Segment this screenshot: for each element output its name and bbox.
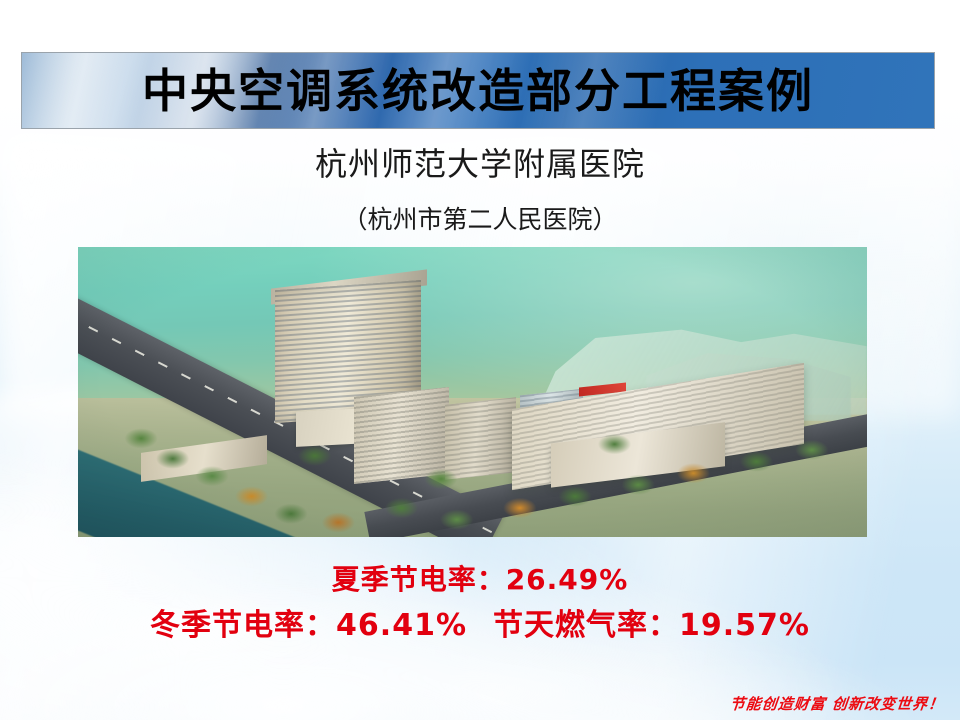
subtitle-primary: 杭州师范大学附属医院 [0, 146, 960, 184]
page-title: 中央空调系统改造部分工程案例 [142, 68, 814, 114]
title-banner: 中央空调系统改造部分工程案例 [21, 52, 935, 129]
footer-slogan: 节能创造财富 创新改变世界！ [729, 693, 945, 714]
project-photo [78, 247, 867, 537]
slide-canvas: 中央空调系统改造部分工程案例 杭州师范大学附属医院 （杭州市第二人民医院） 夏季… [0, 0, 960, 720]
stat-winter-power-saving: 冬季节电率：46.41% [150, 608, 467, 643]
stat-row-secondary: 冬季节电率：46.41%节天燃气率：19.57% [0, 600, 960, 644]
photo-vignette [78, 247, 867, 537]
stat-gas-saving: 节天燃气率：19.57% [493, 608, 810, 643]
stat-summer-power-saving: 夏季节电率：26.49% [0, 558, 960, 598]
subtitle-secondary: （杭州市第二人民医院） [0, 205, 960, 235]
